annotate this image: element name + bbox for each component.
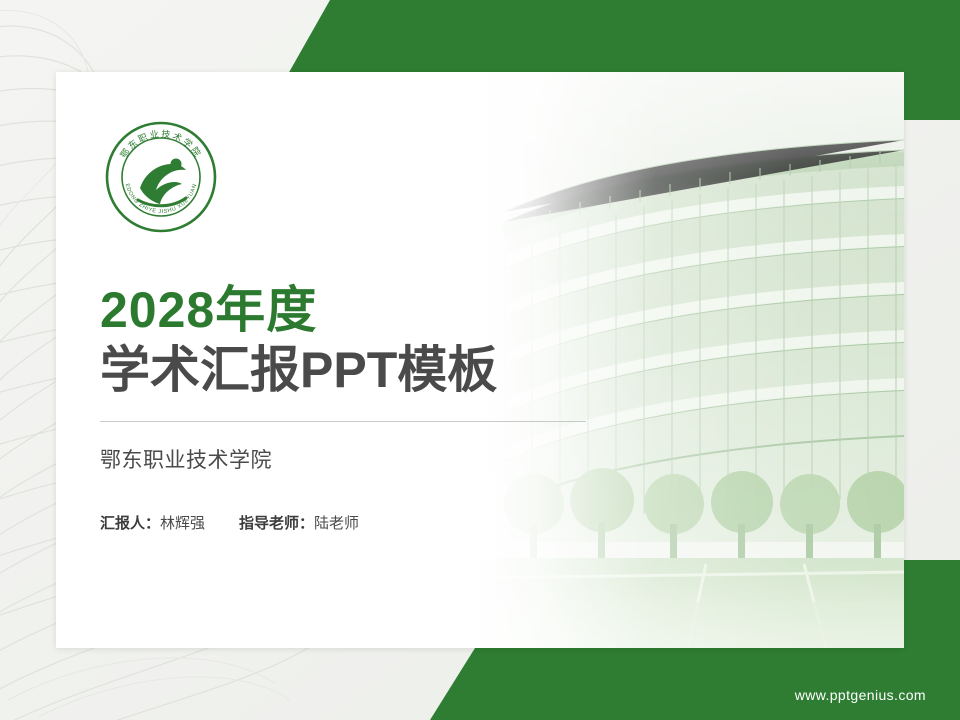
advisor-name: 陆老师 [314,512,359,533]
title-year: 2028年度 [100,282,620,340]
advisor-label: 指导老师： [239,512,314,533]
title-main: 学术汇报PPT模板 [100,342,620,400]
presenter-label: 汇报人： [100,512,160,533]
presenter-name: 林辉强 [160,512,205,533]
school-name: 鄂东职业技术学院 [100,444,620,474]
presenter-meta-row: 汇报人： 林辉强 指导老师： 陆老师 [100,512,620,533]
title-divider [100,421,586,422]
footer-website-url[interactable]: www.pptgenius.com [795,687,926,703]
school-emblem-logo: 鄂东职业技术学院 EDONG ZHIYE JISHU XUEYUAN [104,120,218,234]
title-text-block: 2028年度 学术汇报PPT模板 鄂东职业技术学院 汇报人： 林辉强 指导老师：… [100,282,620,533]
slide-card: 鄂东职业技术学院 EDONG ZHIYE JISHU XUEYUAN 2028年… [56,72,904,648]
presentation-slide: 鄂东职业技术学院 EDONG ZHIYE JISHU XUEYUAN 2028年… [0,0,960,720]
